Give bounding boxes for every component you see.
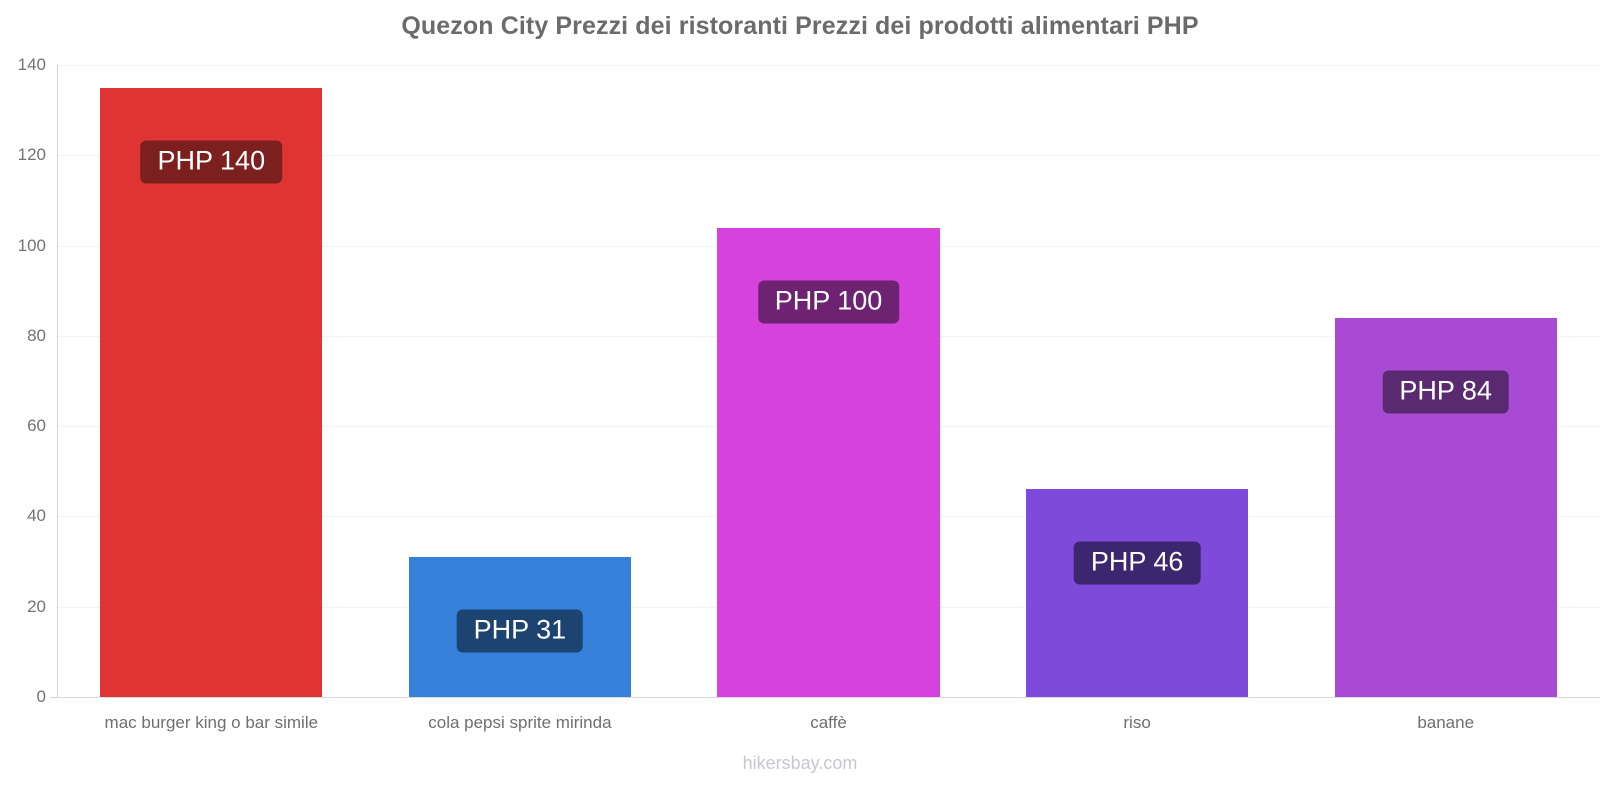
y-axis-tick-label: 40 <box>0 506 46 526</box>
chart-title: Quezon City Prezzi dei ristoranti Prezzi… <box>0 12 1600 41</box>
x-axis-tick-label-4: banane <box>1417 713 1474 733</box>
bar-value-label-1: PHP 31 <box>457 610 584 653</box>
y-axis-line <box>57 65 58 698</box>
y-axis-tick-label: 80 <box>0 326 46 346</box>
footer-attribution: hikersbay.com <box>0 753 1600 774</box>
x-axis-tick-label-0: mac burger king o bar simile <box>105 713 319 733</box>
y-axis-tick-label: 60 <box>0 416 46 436</box>
y-axis-tick-label: 120 <box>0 145 46 165</box>
bar-chart: Quezon City Prezzi dei ristoranti Prezzi… <box>0 0 1600 800</box>
x-axis-tick-label-3: riso <box>1123 713 1150 733</box>
bar-value-label-3: PHP 46 <box>1074 542 1201 585</box>
y-axis-tick-mark <box>50 697 57 698</box>
plot-area <box>57 65 1600 697</box>
gridline <box>57 65 1600 66</box>
y-axis-tick-label: 140 <box>0 55 46 75</box>
bar-value-label-2: PHP 100 <box>758 280 900 323</box>
x-axis-line <box>57 697 1600 698</box>
y-axis-tick-label: 100 <box>0 236 46 256</box>
x-axis-tick-label-1: cola pepsi sprite mirinda <box>428 713 611 733</box>
x-axis-tick-label-2: caffè <box>810 713 847 733</box>
y-axis-tick-label: 20 <box>0 597 46 617</box>
y-axis-tick-label: 0 <box>0 687 46 707</box>
bar-value-label-0: PHP 140 <box>141 140 283 183</box>
bar-3[interactable] <box>1026 489 1248 697</box>
bar-value-label-4: PHP 84 <box>1382 370 1509 413</box>
